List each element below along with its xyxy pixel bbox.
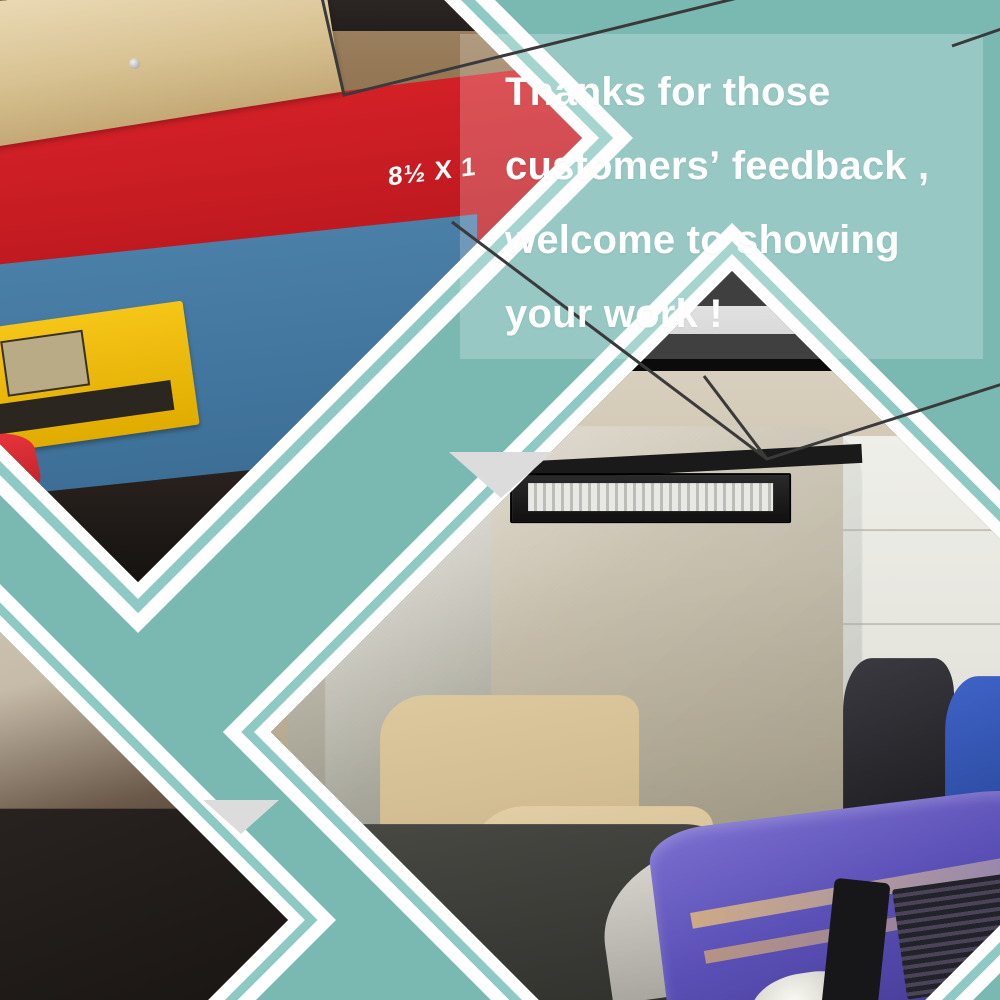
workshop-screw-2 [129, 58, 140, 69]
headline-text: Thanks for those customersʼ feedback , w… [505, 55, 975, 351]
utv-front-wheel [297, 991, 501, 1000]
notch-triangle-center [449, 452, 553, 498]
workshop-yellow-tool-window [0, 330, 90, 397]
corner-dark-area [0, 808, 288, 1000]
notch-triangle-lower-left [203, 800, 279, 834]
photo-corner-image [0, 572, 288, 1000]
photo-corner-white-frame [0, 555, 305, 1000]
corner-shop-scene [0, 572, 288, 1000]
utv-grille [892, 872, 1000, 1000]
promo-banner-canvas: 8½ X 1 letter s er [0, 0, 1000, 1000]
